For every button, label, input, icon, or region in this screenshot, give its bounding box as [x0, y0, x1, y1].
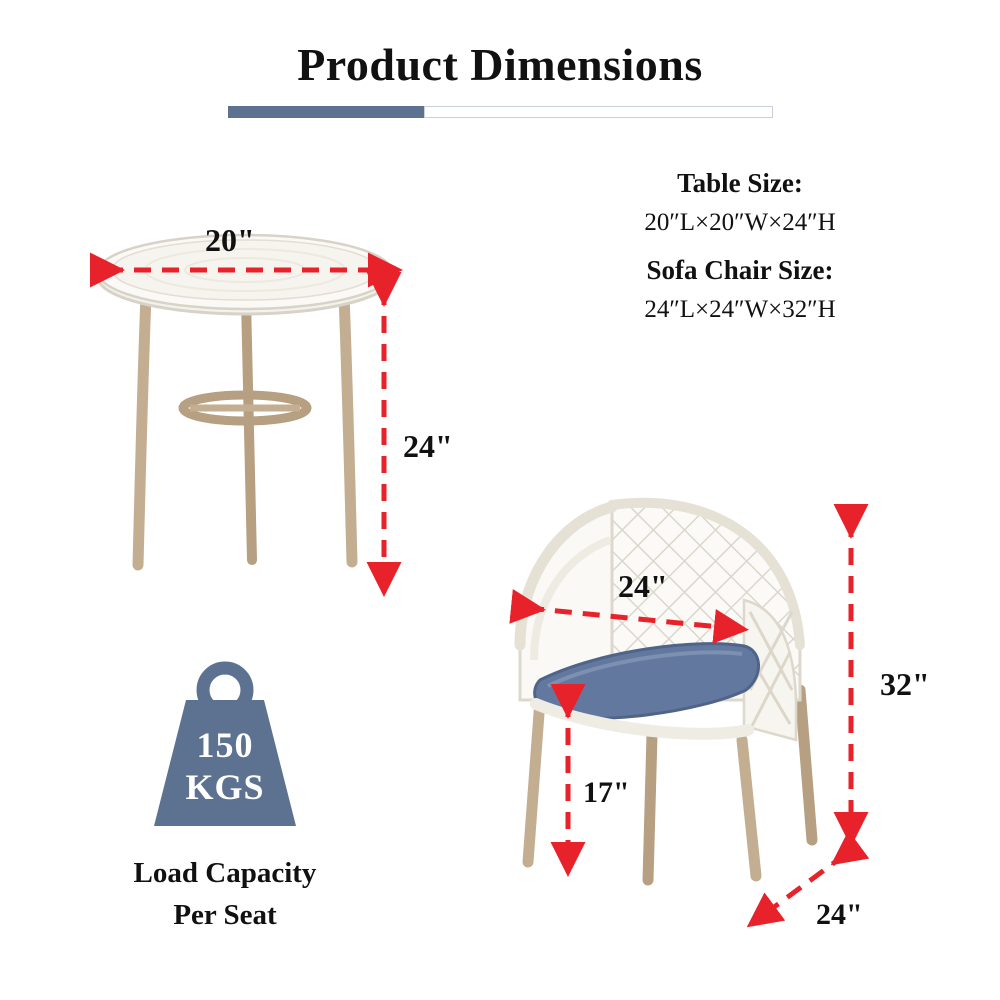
- load-value: 150: [145, 724, 305, 766]
- product-dimensions-infographic: Product Dimensions Table Size: 20″L×20″W…: [0, 0, 1000, 1000]
- load-caption-line2: Per Seat: [70, 894, 380, 936]
- load-capacity-caption: Load Capacity Per Seat: [70, 852, 380, 936]
- load-capacity-badge: [0, 0, 1000, 1000]
- load-caption-line1: Load Capacity: [70, 852, 380, 894]
- load-unit: KGS: [145, 766, 305, 808]
